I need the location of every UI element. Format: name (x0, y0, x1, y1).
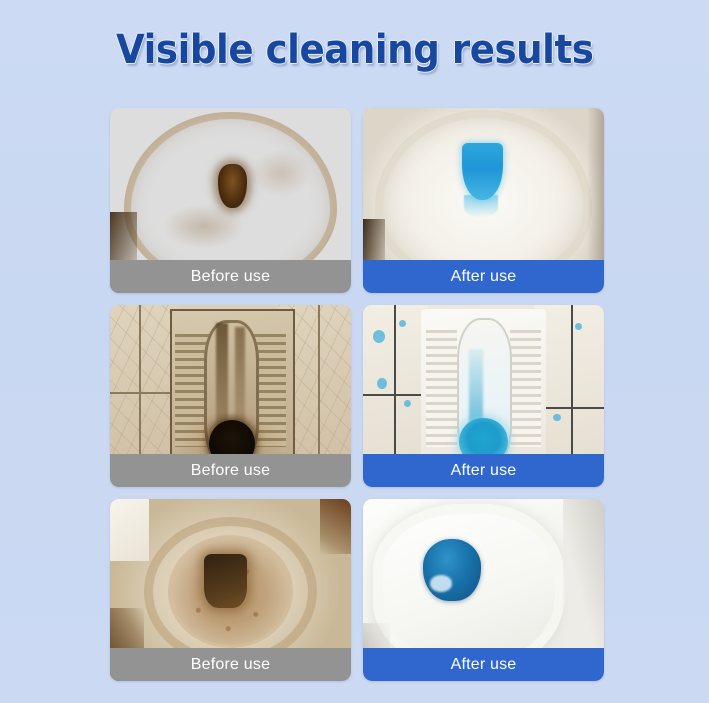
before-card-1[interactable]: Before use (110, 108, 351, 293)
grout-line-shape (363, 394, 428, 396)
comparison-grid: Before use After use (110, 108, 604, 681)
page-title-container: Visible cleaning results (0, 27, 709, 73)
after-card-1[interactable]: After use (363, 108, 604, 293)
footrest-ridges-shape (510, 330, 541, 446)
shadow-shape (320, 499, 351, 554)
after-label-3: After use (363, 648, 604, 681)
stain-shape (250, 149, 313, 197)
blue-droplet-shape (377, 378, 387, 389)
blue-droplet-shape (373, 330, 385, 343)
highlight-shape (110, 499, 149, 561)
blue-streak-shape (469, 349, 483, 429)
before-card-3[interactable]: Before use (110, 499, 351, 681)
drain-hole-shape (204, 554, 247, 609)
footrest-ridges-shape (426, 330, 457, 446)
before-card-2[interactable]: Before use (110, 305, 351, 487)
after-label-1: After use (363, 260, 604, 293)
stain-shape (163, 204, 245, 248)
highlight-shape (430, 575, 452, 591)
after-card-3[interactable]: After use (363, 499, 604, 681)
after-label-2: After use (363, 454, 604, 487)
page-title: Visible cleaning results (116, 27, 593, 73)
comparison-row-2: Before use (110, 305, 604, 487)
comparison-row-1: Before use After use (110, 108, 604, 293)
promo-page: Visible cleaning results Before use (0, 0, 709, 703)
before-label-3: Before use (110, 648, 351, 681)
grout-line-shape (110, 392, 177, 394)
after-card-2[interactable]: After use (363, 305, 604, 487)
before-label-1: Before use (110, 260, 351, 293)
blue-water-shape (423, 539, 481, 601)
blue-droplet-shape (404, 400, 411, 407)
before-label-2: Before use (110, 454, 351, 487)
comparison-row-3: Before use After use (110, 499, 604, 681)
